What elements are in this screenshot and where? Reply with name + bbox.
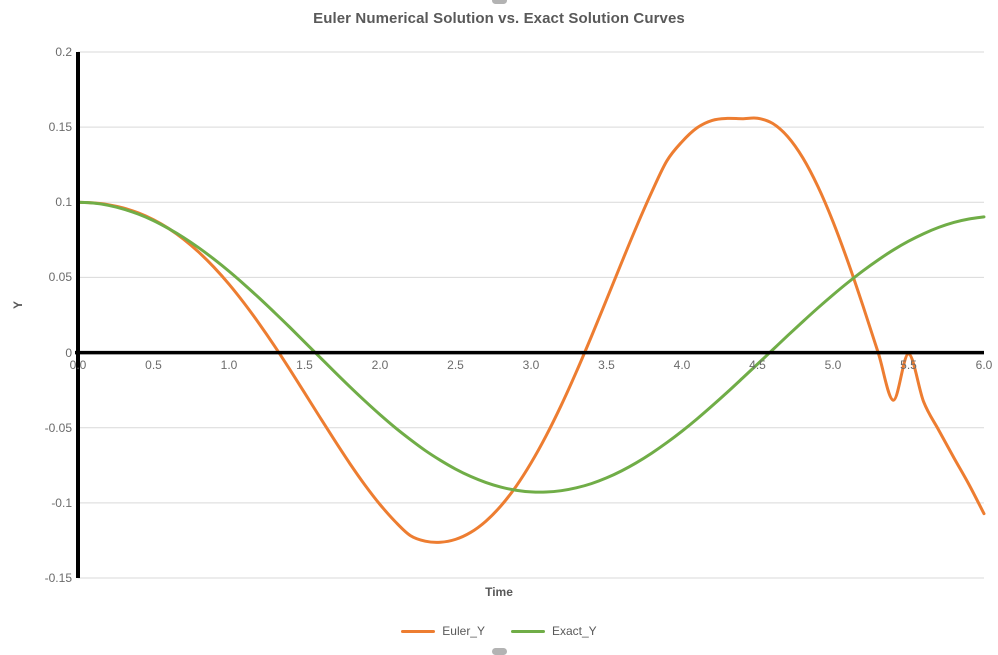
chart-container[interactable]: Euler Numerical Solution vs. Exact Solut… <box>0 0 998 653</box>
x-tick-label: 0.0 <box>70 358 87 372</box>
chart-legend: Euler_YExact_Y <box>0 624 998 638</box>
x-tick-label: 2.5 <box>447 358 464 372</box>
legend-swatch-icon <box>401 630 435 633</box>
x-tick-label: 1.5 <box>296 358 313 372</box>
series-line-euler_y <box>78 118 984 542</box>
plot-svg <box>0 0 998 653</box>
legend-item-euler_y[interactable]: Euler_Y <box>401 624 485 638</box>
gridlines <box>78 52 984 578</box>
y-axis-tick-labels: 0.20.150.10.050-0.05-0.1-0.15 <box>0 0 72 653</box>
x-axis-title: Time <box>0 585 998 599</box>
x-tick-label: 5.5 <box>900 358 917 372</box>
y-tick-label: 0.05 <box>12 270 72 284</box>
y-tick-label: 0.15 <box>12 120 72 134</box>
y-tick-label: 0.2 <box>12 45 72 59</box>
x-tick-label: 4.0 <box>674 358 691 372</box>
x-tick-label: 3.0 <box>523 358 540 372</box>
legend-swatch-icon <box>511 630 545 633</box>
x-tick-label: 1.0 <box>221 358 238 372</box>
x-axis-tick-labels: 0.00.51.01.52.02.53.03.54.04.55.05.56.0 <box>0 358 998 378</box>
legend-label: Euler_Y <box>442 624 485 638</box>
series-layer <box>78 118 984 542</box>
y-axis-title: Y <box>11 301 25 309</box>
x-tick-label: 6.0 <box>976 358 993 372</box>
y-tick-label: -0.05 <box>12 421 72 435</box>
y-tick-label: -0.15 <box>12 571 72 585</box>
x-tick-label: 4.5 <box>749 358 766 372</box>
y-tick-label: 0.1 <box>12 195 72 209</box>
x-tick-label: 0.5 <box>145 358 162 372</box>
plot-area <box>0 0 998 653</box>
x-tick-label: 2.0 <box>372 358 389 372</box>
x-tick-label: 5.0 <box>825 358 842 372</box>
series-line-exact_y <box>78 202 984 492</box>
legend-item-exact_y[interactable]: Exact_Y <box>511 624 597 638</box>
y-tick-label: -0.1 <box>12 496 72 510</box>
x-tick-label: 3.5 <box>598 358 615 372</box>
legend-label: Exact_Y <box>552 624 597 638</box>
